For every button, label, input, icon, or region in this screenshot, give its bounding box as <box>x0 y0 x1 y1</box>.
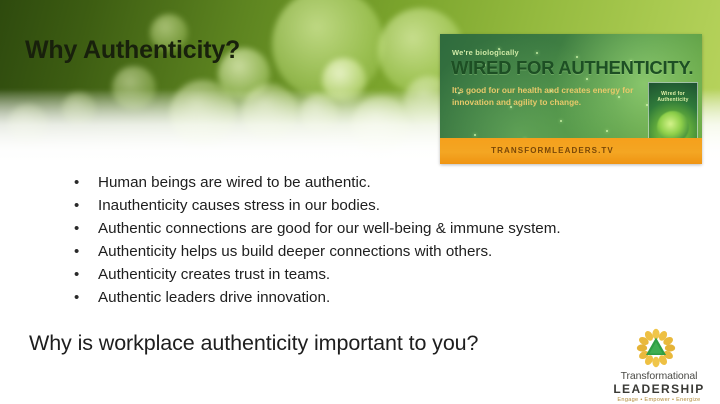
bokeh-circle <box>8 104 48 144</box>
bullet-marker-icon: • <box>74 264 98 285</box>
list-item: • Authentic leaders drive innovation. <box>74 287 714 310</box>
promo-url-text: TRANSFORMLEADERS.TV <box>440 138 665 164</box>
logo-tagline: Engage • Empower • Energize <box>600 397 718 403</box>
slide: Why Authenticity? We're biologically WIR… <box>0 0 720 404</box>
logo-name: Transformational <box>600 370 718 382</box>
list-item-label: Inauthenticity causes stress in our bodi… <box>98 195 380 216</box>
bokeh-circle <box>242 84 298 140</box>
book-cover-title: Wired for Authenticity <box>649 91 697 103</box>
bokeh-circle <box>322 58 366 102</box>
bullet-list: • Human beings are wired to be authentic… <box>74 172 714 310</box>
bullet-marker-icon: • <box>74 241 98 262</box>
bokeh-circle <box>352 96 410 154</box>
promo-subtext: It's good for our health and creates ene… <box>452 84 657 108</box>
list-item-label: Authenticity helps us build deeper conne… <box>98 241 492 262</box>
promo-headline: WIRED FOR AUTHENTICITY. <box>451 57 693 79</box>
list-item: • Authenticity creates trust in teams. <box>74 264 714 287</box>
list-item-label: Human beings are wired to be authentic. <box>98 172 371 193</box>
promo-url-bar[interactable]: TRANSFORMLEADERS.TV <box>440 138 702 164</box>
sunburst-triangle-icon <box>632 328 680 370</box>
list-item: • Inauthenticity causes stress in our bo… <box>74 195 714 218</box>
list-item: • Authentic connections are good for our… <box>74 218 714 241</box>
logo-wordmark: LEADERSHIP <box>600 382 718 396</box>
promo-eyebrow: We're biologically <box>452 48 519 57</box>
bokeh-circle <box>112 66 156 110</box>
bokeh-circle <box>170 80 236 146</box>
list-item-label: Authentic leaders drive innovation. <box>98 287 330 308</box>
promo-banner[interactable]: We're biologically WIRED FOR AUTHENTICIT… <box>440 34 702 164</box>
page-title: Why Authenticity? <box>25 36 240 65</box>
bullet-marker-icon: • <box>74 172 98 193</box>
bullet-marker-icon: • <box>74 218 98 239</box>
list-item-label: Authentic connections are good for our w… <box>98 218 561 239</box>
bullet-marker-icon: • <box>74 195 98 216</box>
list-item: • Human beings are wired to be authentic… <box>74 172 714 195</box>
list-item-label: Authenticity creates trust in teams. <box>98 264 330 285</box>
bullet-marker-icon: • <box>74 287 98 308</box>
list-item: • Authenticity helps us build deeper con… <box>74 241 714 264</box>
logo: Transformational LEADERSHIP Engage • Emp… <box>600 328 718 400</box>
bokeh-circle <box>300 94 338 132</box>
closing-question: Why is workplace authenticity important … <box>29 331 478 356</box>
bokeh-circle <box>62 92 96 126</box>
